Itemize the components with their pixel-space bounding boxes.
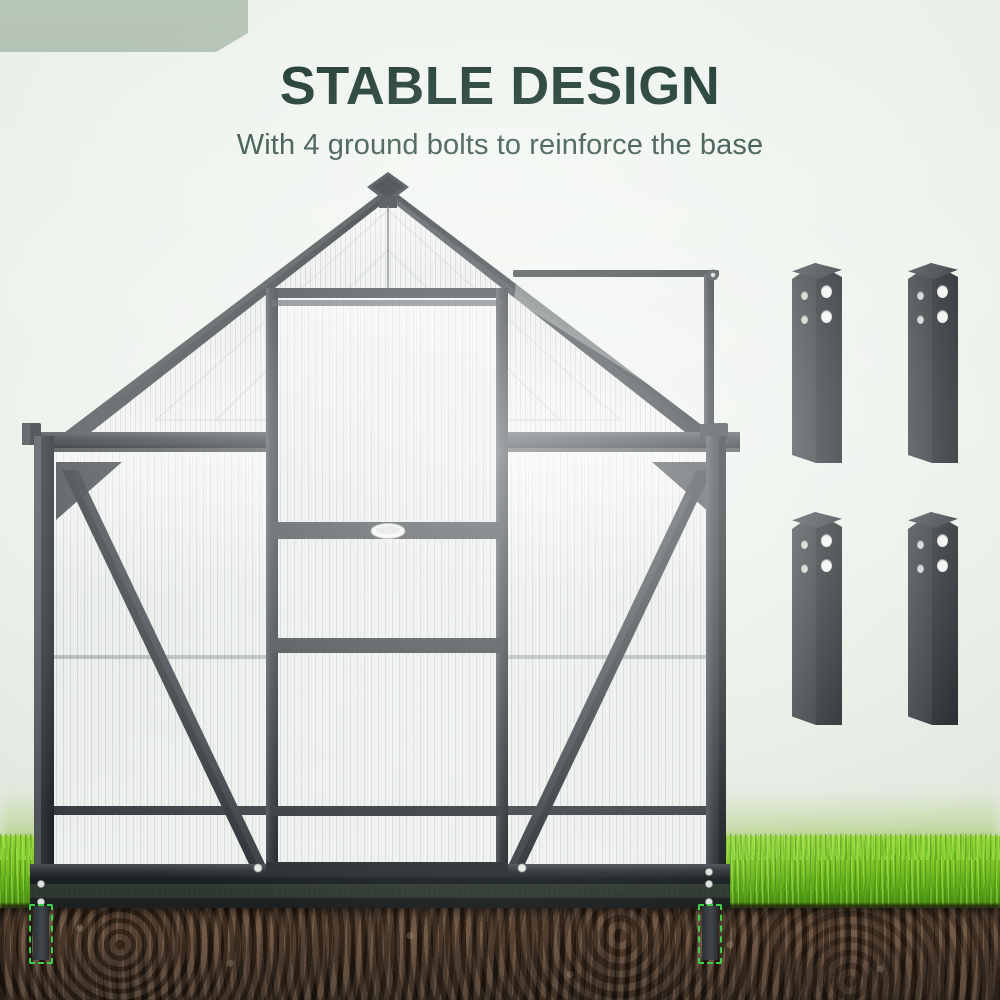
door-stile-right	[496, 288, 508, 876]
ground-bolt-4	[908, 512, 958, 725]
ground-bolt-2-hole-2	[917, 315, 924, 324]
ground-bolt-3-hole-4	[821, 559, 832, 572]
ground-bolt-1-hole-1	[801, 291, 808, 300]
ground-bolt-4-hole-3	[937, 534, 948, 547]
ground-bolt-2	[908, 263, 958, 463]
door-rail-middle	[272, 638, 502, 653]
corner-post-left	[34, 436, 54, 876]
ground-bolt-3-hole-3	[821, 534, 832, 547]
marketing-image-canvas: STABLE DESIGN With 4 ground bolts to rei…	[0, 0, 1000, 1000]
ground-bolt-4-hole-4	[937, 559, 948, 572]
ground-bolt-4-hole-2	[917, 564, 924, 573]
ground-bolt-2-hole-1	[917, 291, 924, 300]
ground-bolt-3	[792, 512, 842, 725]
vent-stay-arm	[704, 274, 714, 430]
ground-bolt-4-hole-1	[917, 540, 924, 549]
installed-ground-bolt-left-highlight	[29, 904, 53, 964]
corner-post-right	[706, 436, 726, 876]
door-bottom-rail	[266, 862, 508, 876]
door-stile-left	[266, 288, 278, 876]
ground-bolt-1-hole-4	[821, 310, 832, 323]
ground-bolt-1	[792, 263, 842, 463]
ground-bolt-3-hole-1	[801, 540, 808, 549]
ground-bolt-1-hole-2	[801, 315, 808, 324]
door-head-rail	[266, 288, 508, 298]
door-rail-lower	[272, 806, 502, 816]
greenhouse-illustration	[0, 0, 1000, 1000]
ground-bolt-3-hole-2	[801, 564, 808, 573]
ground-bolt-2-hole-3	[937, 285, 948, 298]
greenhouse-door[interactable]	[266, 288, 508, 876]
vent-top-bar	[513, 270, 719, 277]
ground-bolt-1-hole-3	[821, 285, 832, 298]
ground-bolt-2-hole-4	[937, 310, 948, 323]
installed-ground-bolt-right-highlight	[698, 904, 722, 964]
